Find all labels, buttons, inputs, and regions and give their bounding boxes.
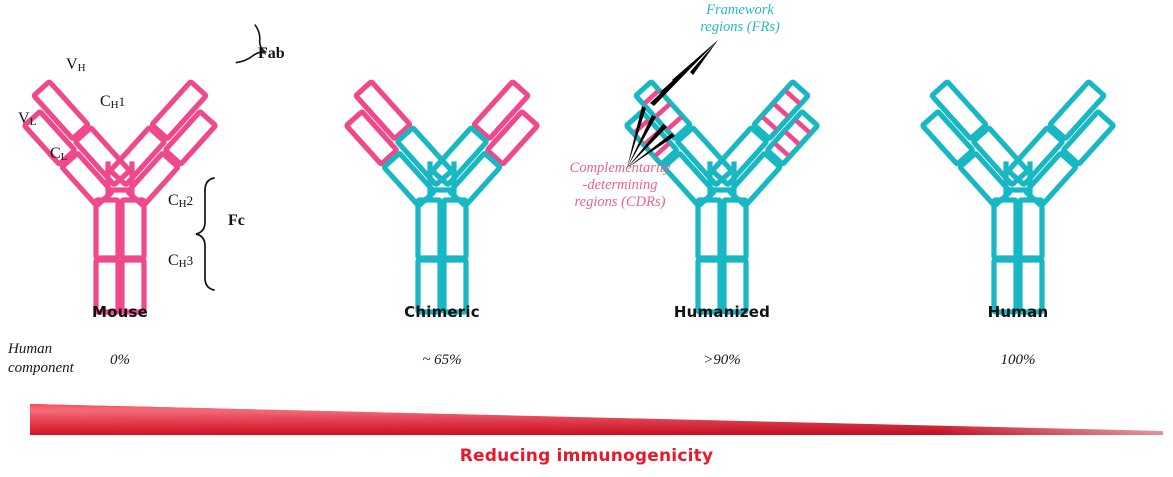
domain-label-ch2: CH2 [168, 192, 193, 210]
human-component-mouse: 0% [0, 352, 250, 369]
fc-left-ch2-domain [994, 200, 1016, 258]
right-arm-vl-domain [487, 112, 537, 165]
fc-right-ch2-domain [1020, 200, 1042, 258]
human-component-chimeric: ~ 65% [312, 352, 572, 369]
left-arm-vl-domain [346, 112, 396, 165]
arrow-caption: Reducing immunogenicity [0, 446, 1173, 466]
domain-label-cl: CL [50, 145, 67, 163]
human-component-human: 100% [888, 352, 1148, 369]
fc-left-ch2-domain [96, 200, 118, 258]
diagram-canvas: Mouse Chimeric Humanized Human Human com… [0, 0, 1173, 477]
human-component-humanized: >90% [592, 352, 852, 369]
region-label-fc: Fc [228, 212, 245, 230]
immunogenicity-gradient-arrow [0, 398, 1173, 440]
domain-label-vl: VL [18, 110, 36, 128]
gradient-triangle-sheen [30, 404, 1163, 435]
domain-label-ch1: CH1 [100, 93, 125, 111]
region-label-fab: Fab [258, 45, 285, 63]
fc-right-ch2-domain [444, 200, 466, 258]
antibody-label-chimeric: Chimeric [312, 303, 572, 321]
antibody-label-human: Human [888, 303, 1148, 321]
callout-framework-regions: Framework regions (FRs) [640, 2, 840, 36]
antibody-figure-mouse [0, 38, 250, 308]
left-arm-vl-domain [922, 112, 972, 165]
fc-right-ch2-domain [724, 200, 746, 258]
domain-label-ch3: CH3 [168, 252, 193, 270]
right-arm-vl-domain [1063, 112, 1113, 165]
fc-left-ch2-domain [418, 200, 440, 258]
antibody-label-humanized: Humanized [592, 303, 852, 321]
antibody-label-mouse: Mouse [0, 303, 250, 321]
right-arm-vl-domain [165, 112, 215, 165]
callout-cdr-regions: Complementarity -determining regions (CD… [520, 160, 720, 210]
fc-right-ch2-domain [122, 200, 144, 258]
antibody-figure-human [888, 38, 1148, 308]
domain-label-vh: VH [66, 56, 86, 74]
